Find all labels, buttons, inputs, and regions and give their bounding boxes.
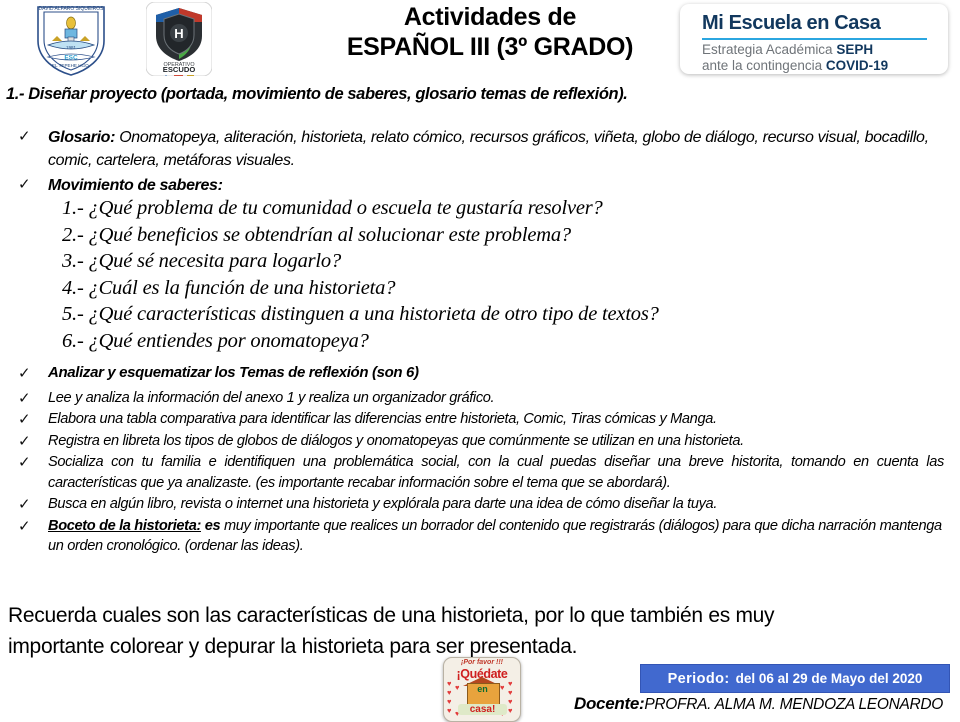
question-item: 3.- ¿Qué sé necesita para logarlo? bbox=[0, 248, 960, 275]
question-item: 4.- ¿Cuál es la función de una historiet… bbox=[0, 275, 960, 302]
title-line-1: Actividades de bbox=[300, 2, 680, 32]
checkmark-icon: ✓ bbox=[18, 363, 31, 384]
periodo-badge: Periodo: del 06 al 29 de Mayo del 2020 bbox=[640, 664, 950, 693]
closing-paragraph: Recuerda cuales son las características … bbox=[8, 600, 848, 662]
checkmark-icon: ✓ bbox=[18, 494, 31, 515]
bullet-text: Analizar y esquematizar los Temas de ref… bbox=[48, 363, 960, 384]
checkmark-icon: ✓ bbox=[18, 516, 31, 537]
school-crest-icon: DAVID ALFARO SIQUEIROS 1981 ESC EL TEPEH… bbox=[28, 1, 114, 77]
sticker-top-text: ¡Por favor !!! bbox=[444, 659, 520, 666]
docente-line: Docente:PROFRA. ALMA M. MENDOZA LEONARDO bbox=[574, 694, 943, 714]
question-item: 1.- ¿Qué problema de tu comunidad o escu… bbox=[0, 195, 960, 222]
periodo-label: Periodo: bbox=[668, 671, 730, 687]
boceto-underlined-lead: Boceto de la historieta: bbox=[48, 518, 201, 534]
bullet-text: Registra en libreta los tipos de globos … bbox=[48, 431, 960, 452]
checkmark-icon: ✓ bbox=[18, 452, 31, 473]
sticker-middle-text: en bbox=[467, 684, 498, 694]
question-item: 5.- ¿Qué características distinguen a un… bbox=[0, 301, 960, 328]
operativo-escudo-logo: H OPERATIVO ESCUDO bbox=[146, 2, 212, 76]
boceto-bold-word: es bbox=[201, 518, 220, 534]
docente-name: PROFRA. ALMA M. MENDOZA LEONARDO bbox=[644, 696, 943, 713]
top-bullet-list: ✓ Glosario: Onomatopeya, aliteración, hi… bbox=[0, 126, 960, 199]
badge-sub1-bold: SEPH bbox=[836, 42, 873, 57]
bullet-body: Onomatopeya, aliteración, historieta, re… bbox=[48, 129, 929, 169]
svg-text:1981: 1981 bbox=[66, 45, 77, 50]
checkmark-icon: ✓ bbox=[18, 126, 31, 147]
badge-subtitle-line-1: Estrategia Académica SEPH bbox=[702, 42, 888, 58]
svg-text:DAVID ALFARO SIQUEIROS: DAVID ALFARO SIQUEIROS bbox=[39, 6, 105, 12]
badge-sub2-plain: ante la contingencia bbox=[702, 58, 826, 73]
bullet-bold-lead: Movimiento de saberes: bbox=[48, 177, 223, 194]
question-item: 2.- ¿Qué beneficios se obtendrían al sol… bbox=[0, 222, 960, 249]
bullet-text: Boceto de la historieta: es muy importan… bbox=[48, 516, 948, 557]
checkmark-icon: ✓ bbox=[18, 409, 31, 430]
questions-list: 1.- ¿Qué problema de tu comunidad o escu… bbox=[0, 195, 960, 354]
quedate-en-casa-sticker: ♥♥ ♥♥ ♥♥ ♥♥ ♥♥ ♥♥ ¡Por favor !!! ¡Quédat… bbox=[443, 657, 521, 722]
checkmark-icon: ✓ bbox=[18, 174, 31, 195]
badge-accent-rule bbox=[702, 38, 927, 40]
question-item: 6.- ¿Qué entiendes por onomatopeya? bbox=[0, 328, 960, 355]
school-crest-logo: DAVID ALFARO SIQUEIROS 1981 ESC EL TEPEH… bbox=[28, 1, 114, 77]
badge-sub2-bold: COVID-19 bbox=[826, 58, 888, 73]
svg-text:ESC: ESC bbox=[64, 55, 78, 62]
list-item: ✓ Movimiento de saberes: bbox=[0, 174, 960, 197]
page-header: DAVID ALFARO SIQUEIROS 1981 ESC EL TEPEH… bbox=[0, 0, 960, 80]
svg-text:H: H bbox=[174, 26, 183, 41]
page-title: Actividades de ESPAÑOL III (3º GRADO) bbox=[300, 2, 680, 63]
badge-title: Mi Escuela en Casa bbox=[702, 12, 880, 35]
checkmark-icon: ✓ bbox=[18, 388, 31, 409]
badge-sub1-plain: Estrategia Académica bbox=[702, 42, 836, 57]
list-item: ✓ Elabora una tabla comparativa para ide… bbox=[0, 409, 960, 430]
operativo-escudo-icon: H OPERATIVO ESCUDO bbox=[146, 2, 212, 76]
bullet-text: Movimiento de saberes: bbox=[48, 174, 960, 197]
bullet-text: Busca en algún libro, revista o internet… bbox=[48, 494, 960, 515]
badge-subtitle-line-2: ante la contingencia COVID-19 bbox=[702, 58, 888, 74]
bullet-text: Socializa con tu familia e identifiquen … bbox=[48, 452, 944, 493]
bullet-text: Lee y analiza la información del anexo 1… bbox=[48, 388, 960, 409]
bullet-text: Elabora una tabla comparativa para ident… bbox=[48, 409, 960, 430]
svg-text:EL TEPEHE HGO.: EL TEPEHE HGO. bbox=[52, 63, 90, 68]
docente-label: Docente: bbox=[574, 694, 644, 713]
list-item: ✓ Boceto de la historieta: es muy import… bbox=[0, 516, 960, 557]
list-item: ✓ Registra en libreta los tipos de globo… bbox=[0, 431, 960, 452]
sticker-bottom-text: casa! bbox=[458, 704, 507, 715]
list-item: ✓ Lee y analiza la información del anexo… bbox=[0, 388, 960, 409]
bullet-bold-lead: Glosario: bbox=[48, 129, 115, 146]
bottom-bullet-list: ✓ Analizar y esquematizar los Temas de r… bbox=[0, 363, 960, 558]
list-item: ✓ Busca en algún libro, revista o intern… bbox=[0, 494, 960, 515]
list-item: ✓ Analizar y esquematizar los Temas de r… bbox=[0, 363, 960, 384]
title-line-2: ESPAÑOL III (3º GRADO) bbox=[300, 32, 680, 63]
intro-line: 1.- Diseñar proyecto (portada, movimient… bbox=[6, 85, 628, 104]
list-item: ✓ Glosario: Onomatopeya, aliteración, hi… bbox=[0, 126, 960, 172]
list-item: ✓ Socializa con tu familia e identifique… bbox=[0, 452, 960, 493]
mi-escuela-en-casa-badge: Mi Escuela en Casa Estrategia Académica … bbox=[680, 4, 948, 74]
worksheet-page: DAVID ALFARO SIQUEIROS 1981 ESC EL TEPEH… bbox=[0, 0, 960, 720]
checkmark-icon: ✓ bbox=[18, 431, 31, 452]
bullet-text: Glosario: Onomatopeya, aliteración, hist… bbox=[48, 126, 960, 172]
badge-subtitle: Estrategia Académica SEPH ante la contin… bbox=[702, 42, 888, 74]
periodo-value: del 06 al 29 de Mayo del 2020 bbox=[736, 671, 923, 686]
svg-text:ESCUDO: ESCUDO bbox=[163, 65, 196, 74]
